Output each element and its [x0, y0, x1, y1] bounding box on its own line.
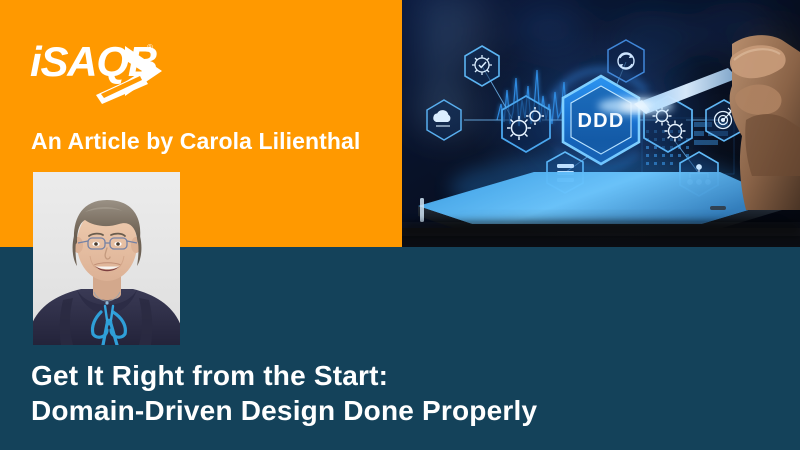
article-byline: An Article by Carola Lilienthal: [31, 128, 360, 155]
article-title: Get It Right from the Start: Domain-Driv…: [31, 358, 537, 428]
article-banner: DDD: [0, 0, 800, 450]
article-title-line-1: Get It Right from the Start:: [31, 358, 537, 393]
isaqb-logo: iSAQB ®: [30, 38, 180, 104]
hero-image: DDD: [402, 0, 800, 247]
trademark-glyph: ®: [147, 43, 153, 52]
author-portrait: [33, 172, 180, 345]
article-title-line-2: Domain-Driven Design Done Properly: [31, 393, 537, 428]
